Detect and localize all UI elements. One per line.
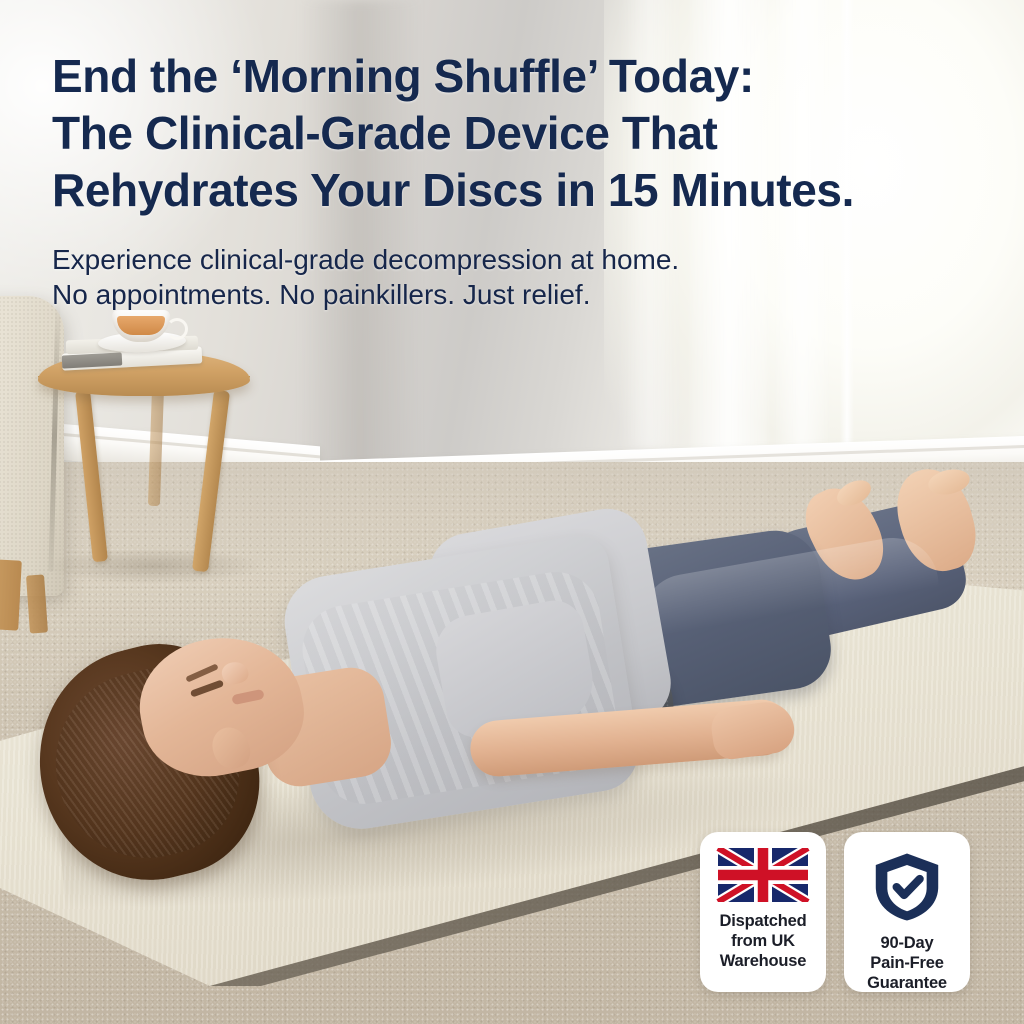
headline-line-1: End the ‘Morning Shuffle’ Today: — [52, 48, 1002, 105]
badge-uk-warehouse-label: Dispatched from UK Warehouse — [720, 911, 807, 971]
badge-guarantee-label: 90-Day Pain-Free Guarantee — [867, 933, 947, 993]
ad-creative: End the ‘Morning Shuffle’ Today: The Cli… — [0, 0, 1024, 1024]
uk-flag-icon — [716, 848, 810, 902]
subheadline-line-2: No appointments. No painkillers. Just re… — [52, 277, 952, 312]
side-table-shadow — [44, 548, 264, 584]
badge-guarantee-line-1: 90-Day — [867, 933, 947, 953]
tea-liquid — [117, 316, 165, 335]
badge-uk-line-3: Warehouse — [720, 951, 807, 971]
headline-line-2: The Clinical-Grade Device That — [52, 105, 1002, 162]
headline: End the ‘Morning Shuffle’ Today: The Cli… — [52, 48, 1002, 219]
badge-guarantee[interactable]: 90-Day Pain-Free Guarantee — [844, 832, 970, 992]
badge-guarantee-line-2: Pain-Free — [867, 953, 947, 973]
badge-uk-warehouse[interactable]: Dispatched from UK Warehouse — [700, 832, 826, 992]
subheadline: Experience clinical-grade decompression … — [52, 242, 952, 312]
armchair-leg-front — [0, 559, 22, 630]
shield-check-icon — [870, 850, 944, 924]
badge-guarantee-line-3: Guarantee — [867, 973, 947, 993]
badge-uk-line-2: from UK — [720, 931, 807, 951]
teacup-handle — [166, 318, 188, 340]
trust-badges: Dispatched from UK Warehouse 90-Day Pain… — [700, 832, 970, 992]
subheadline-line-1: Experience clinical-grade decompression … — [52, 242, 952, 277]
badge-uk-line-1: Dispatched — [720, 911, 807, 931]
headline-line-3: Rehydrates Your Discs in 15 Minutes. — [52, 162, 1002, 219]
